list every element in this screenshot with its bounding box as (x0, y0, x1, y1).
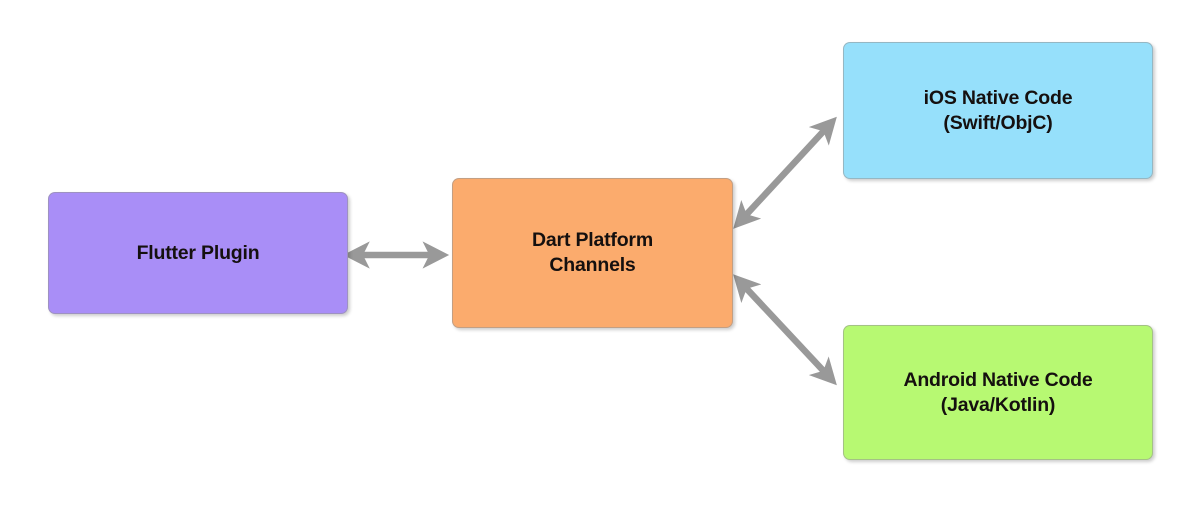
connector-dart-platform-channels-to-android-native-code (746, 288, 832, 380)
node-flutter-plugin[interactable]: Flutter Plugin (48, 192, 348, 314)
node-dart-platform-channels[interactable]: Dart Platform Channels (452, 178, 733, 328)
node-ios-native-code[interactable]: iOS Native Code (Swift/ObjC) (843, 42, 1153, 179)
node-dart-platform-channels-label: Dart Platform Channels (524, 228, 661, 278)
node-android-native-code-label: Android Native Code (Java/Kotlin) (895, 368, 1100, 418)
node-ios-native-code-label: iOS Native Code (Swift/ObjC) (916, 86, 1081, 136)
node-android-native-code[interactable]: Android Native Code (Java/Kotlin) (843, 325, 1153, 460)
node-flutter-plugin-label: Flutter Plugin (129, 241, 268, 266)
connector-dart-platform-channels-to-ios-native-code (746, 122, 832, 215)
architecture-diagram: Flutter Plugin Dart Platform Channels iO… (0, 0, 1200, 510)
